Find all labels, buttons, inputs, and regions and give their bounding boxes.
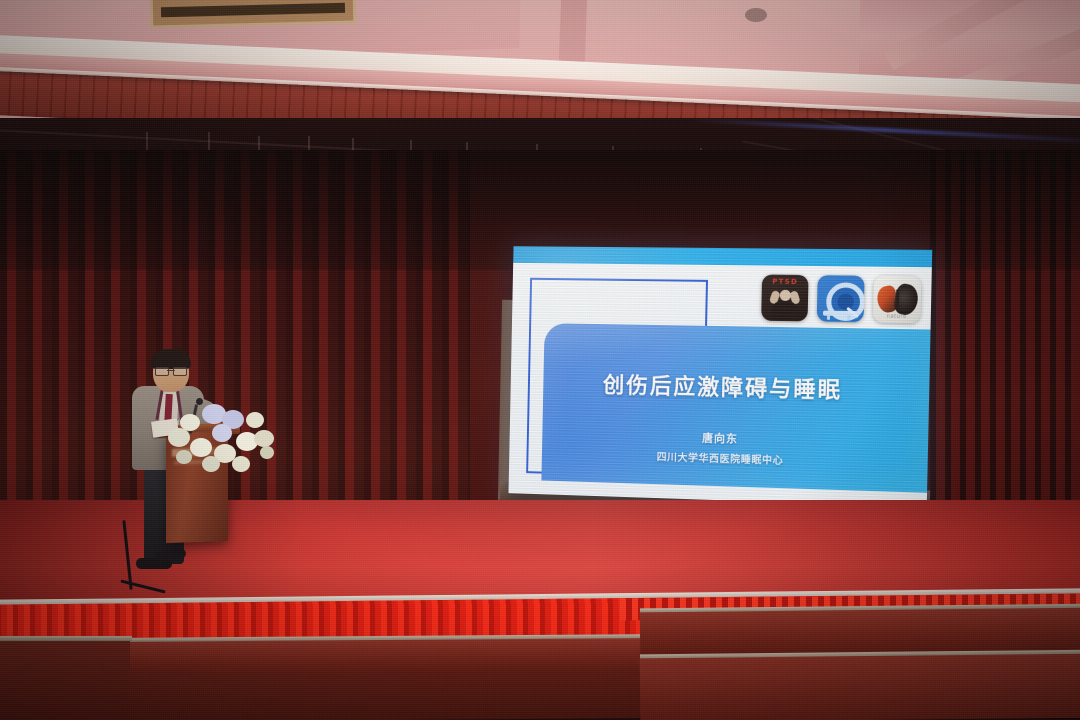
flower-hydrangea <box>212 424 232 442</box>
butterfly-rorschach-icon: nature <box>873 276 921 323</box>
butterfly-body <box>895 289 899 309</box>
mri-bed-leg <box>827 315 830 320</box>
projection-screen: PTSD nature <box>508 246 932 507</box>
butterfly-icon-label: nature <box>873 313 921 320</box>
presenter-glasses <box>155 367 187 374</box>
ptsd-figure-head <box>779 290 790 301</box>
step-nosing <box>0 636 132 641</box>
flower-rose <box>246 412 264 428</box>
slide-title-panel: 创伤后应激障碍与睡眠 唐向东 四川大学华西医院睡眠中心 <box>541 323 930 493</box>
fixture-hanger <box>208 132 210 152</box>
flower-rose <box>260 446 274 459</box>
floral-arrangement <box>168 398 278 478</box>
stage-step-lower-right <box>640 654 1080 720</box>
auditorium-stage-photo: PTSD nature <box>0 0 1080 720</box>
flower-rose <box>254 430 274 447</box>
presentation-slide: PTSD nature <box>508 246 932 507</box>
ptsd-figure-body <box>771 301 798 322</box>
presenter-hair <box>151 349 191 369</box>
mri-scanner-icon <box>817 275 865 322</box>
mri-bed-leg <box>847 315 850 320</box>
ceiling-beam <box>559 0 588 68</box>
stage-step-upper-right <box>640 608 1080 657</box>
flower-rose <box>176 450 192 464</box>
vent-slot <box>161 3 345 17</box>
fixture-hanger <box>146 132 148 150</box>
ceiling-speaker-icon <box>745 8 767 22</box>
ceiling-air-vent <box>150 0 357 29</box>
stage-step-left-block <box>0 640 130 720</box>
ptsd-icon: PTSD <box>761 274 808 321</box>
slide-icon-row: PTSD nature <box>761 274 921 323</box>
flower-rose <box>168 428 190 447</box>
glasses-lens-left <box>155 367 169 376</box>
flower-rose <box>202 456 220 472</box>
ptsd-icon-label: PTSD <box>762 278 809 287</box>
flower-rose <box>190 438 212 457</box>
stage-step-riser <box>128 670 648 720</box>
flower-rose <box>232 456 250 472</box>
glasses-lens-right <box>173 367 187 376</box>
